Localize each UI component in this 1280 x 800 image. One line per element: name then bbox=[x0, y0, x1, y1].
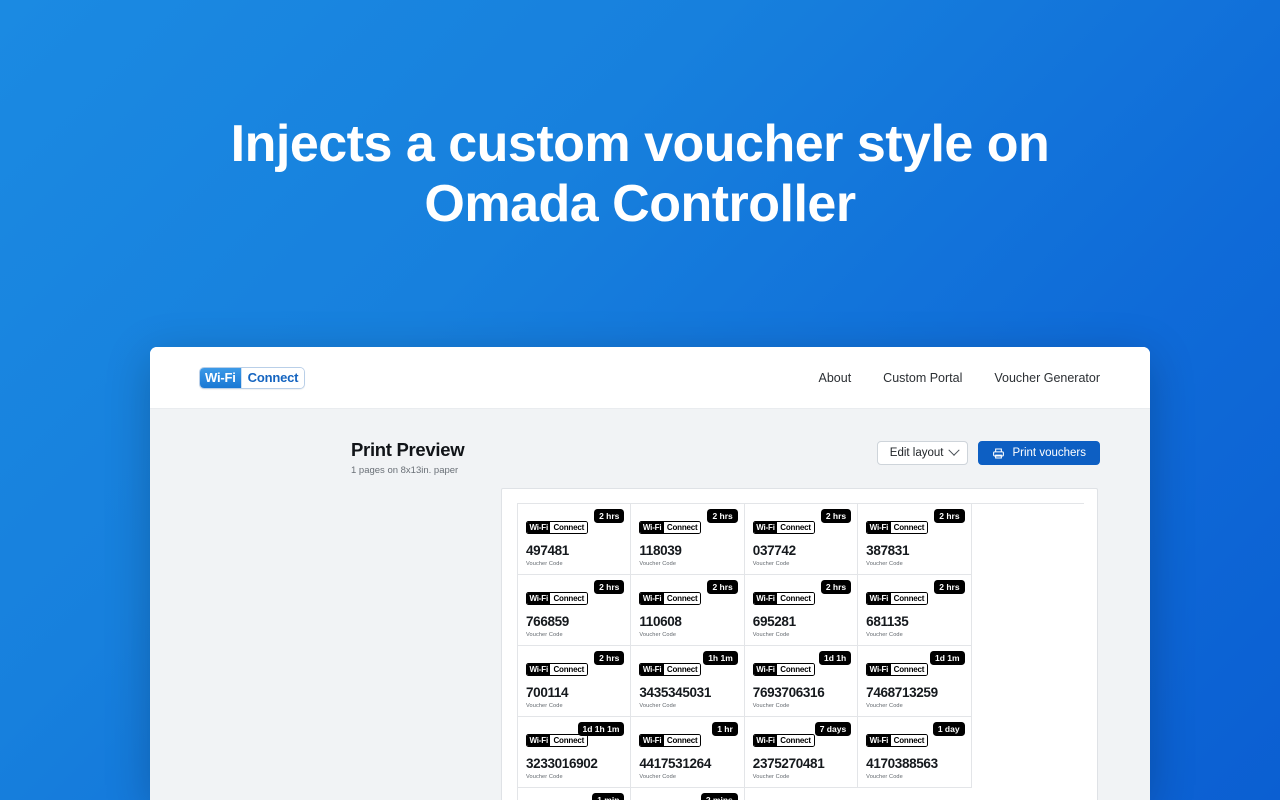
print-preview-toolbar: Print Preview 1 pages on 8x13in. paper E… bbox=[150, 409, 1150, 476]
chevron-down-icon bbox=[949, 445, 960, 456]
voucher-logo-connect: Connect bbox=[550, 735, 587, 746]
voucher-logo-connect: Connect bbox=[664, 522, 701, 533]
voucher-code-caption: Voucher Code bbox=[639, 703, 735, 709]
voucher-code-caption: Voucher Code bbox=[753, 561, 849, 567]
voucher-card: 2 hrsWi-FiConnect037742Voucher Code bbox=[745, 504, 858, 575]
toolbar-titles: Print Preview 1 pages on 8x13in. paper bbox=[351, 437, 464, 476]
voucher-code-caption: Voucher Code bbox=[639, 774, 735, 780]
nav-link-custom-portal[interactable]: Custom Portal bbox=[883, 371, 962, 385]
voucher-logo-connect: Connect bbox=[777, 664, 814, 675]
voucher-duration-badge: 2 hrs bbox=[594, 651, 624, 665]
brand-logo[interactable]: Wi-Fi Connect bbox=[199, 367, 305, 389]
voucher-logo-connect: Connect bbox=[550, 522, 587, 533]
voucher-logo-wifi: Wi-Fi bbox=[867, 664, 890, 675]
voucher-duration-badge: 2 hrs bbox=[934, 509, 964, 523]
voucher-logo: Wi-FiConnect bbox=[639, 521, 701, 534]
voucher-code: 7693706316 bbox=[753, 686, 849, 700]
voucher-code-caption: Voucher Code bbox=[526, 774, 622, 780]
voucher-logo-connect: Connect bbox=[550, 664, 587, 675]
voucher-code-caption: Voucher Code bbox=[866, 632, 962, 638]
voucher-logo: Wi-FiConnect bbox=[526, 734, 588, 747]
voucher-card: 1 hrWi-FiConnect4417531264Voucher Code bbox=[631, 717, 744, 788]
voucher-logo: Wi-FiConnect bbox=[753, 521, 815, 534]
voucher-code: 110608 bbox=[639, 615, 735, 629]
voucher-code-caption: Voucher Code bbox=[639, 632, 735, 638]
voucher-logo-wifi: Wi-Fi bbox=[527, 593, 550, 604]
page-title: Print Preview bbox=[351, 439, 464, 461]
nav-link-voucher-generator[interactable]: Voucher Generator bbox=[994, 371, 1100, 385]
voucher-card: 2 hrsWi-FiConnect497481Voucher Code bbox=[518, 504, 631, 575]
voucher-logo-wifi: Wi-Fi bbox=[867, 735, 890, 746]
voucher-code: 4170388563 bbox=[866, 757, 962, 771]
voucher-code: 387831 bbox=[866, 544, 962, 558]
voucher-logo-connect: Connect bbox=[891, 593, 928, 604]
voucher-logo-wifi: Wi-Fi bbox=[640, 522, 663, 533]
voucher-card: 2 hrsWi-FiConnect700114Voucher Code bbox=[518, 646, 631, 717]
voucher-card: 7 daysWi-FiConnect2375270481Voucher Code bbox=[745, 717, 858, 788]
printer-icon bbox=[992, 447, 1005, 460]
voucher-code: 766859 bbox=[526, 615, 622, 629]
voucher-logo: Wi-FiConnect bbox=[639, 734, 701, 747]
voucher-logo: Wi-FiConnect bbox=[753, 663, 815, 676]
hero-banner: Injects a custom voucher style on Omada … bbox=[0, 0, 1280, 347]
voucher-code: 3435345031 bbox=[639, 686, 735, 700]
main-nav: About Custom Portal Voucher Generator bbox=[819, 371, 1101, 385]
brand-logo-connect: Connect bbox=[241, 368, 305, 388]
voucher-duration-badge: 1d 1m bbox=[930, 651, 965, 665]
voucher-grid: 2 hrsWi-FiConnect497481Voucher Code2 hrs… bbox=[517, 503, 1084, 800]
voucher-logo-connect: Connect bbox=[550, 593, 587, 604]
voucher-card: 1d 1mWi-FiConnect7468713259Voucher Code bbox=[858, 646, 971, 717]
voucher-card: 1h 1mWi-FiConnect3435345031Voucher Code bbox=[631, 646, 744, 717]
print-vouchers-label: Print vouchers bbox=[1012, 447, 1086, 459]
voucher-logo-connect: Connect bbox=[664, 593, 701, 604]
voucher-code: 118039 bbox=[639, 544, 735, 558]
voucher-card: 1 dayWi-FiConnect4170388563Voucher Code bbox=[858, 717, 971, 788]
voucher-logo-wifi: Wi-Fi bbox=[527, 522, 550, 533]
voucher-code: 7468713259 bbox=[866, 686, 962, 700]
voucher-code: 497481 bbox=[526, 544, 622, 558]
voucher-logo-connect: Connect bbox=[777, 735, 814, 746]
voucher-code-caption: Voucher Code bbox=[866, 774, 962, 780]
voucher-logo: Wi-FiConnect bbox=[753, 592, 815, 605]
voucher-code-caption: Voucher Code bbox=[866, 561, 962, 567]
voucher-code: 3233016902 bbox=[526, 757, 622, 771]
voucher-logo-wifi: Wi-Fi bbox=[640, 664, 663, 675]
voucher-logo-wifi: Wi-Fi bbox=[754, 735, 777, 746]
voucher-logo-wifi: Wi-Fi bbox=[867, 593, 890, 604]
nav-link-about[interactable]: About bbox=[819, 371, 852, 385]
print-sheet: 2 hrsWi-FiConnect497481Voucher Code2 hrs… bbox=[501, 488, 1098, 800]
voucher-card: 2 hrsWi-FiConnect387831Voucher Code bbox=[858, 504, 971, 575]
voucher-logo: Wi-FiConnect bbox=[866, 663, 928, 676]
voucher-code: 700114 bbox=[526, 686, 622, 700]
voucher-card: 2 hrsWi-FiConnect110608Voucher Code bbox=[631, 575, 744, 646]
voucher-logo: Wi-FiConnect bbox=[639, 663, 701, 676]
voucher-duration-badge: 2 hrs bbox=[707, 509, 737, 523]
voucher-code-caption: Voucher Code bbox=[639, 561, 735, 567]
toolbar-actions: Edit layout Print vouchers bbox=[877, 437, 1100, 465]
voucher-code: 4417531264 bbox=[639, 757, 735, 771]
voucher-logo-wifi: Wi-Fi bbox=[527, 664, 550, 675]
voucher-logo-connect: Connect bbox=[891, 522, 928, 533]
voucher-code-caption: Voucher Code bbox=[526, 703, 622, 709]
voucher-duration-badge: 1 hr bbox=[712, 722, 738, 736]
voucher-logo: Wi-FiConnect bbox=[526, 521, 588, 534]
voucher-logo-connect: Connect bbox=[777, 522, 814, 533]
voucher-card: 2 hrsWi-FiConnect118039Voucher Code bbox=[631, 504, 744, 575]
voucher-duration-badge: 2 hrs bbox=[821, 580, 851, 594]
voucher-logo-connect: Connect bbox=[891, 735, 928, 746]
voucher-logo-connect: Connect bbox=[777, 593, 814, 604]
voucher-logo-wifi: Wi-Fi bbox=[527, 735, 550, 746]
voucher-card: 2 hrsWi-FiConnect681135Voucher Code bbox=[858, 575, 971, 646]
voucher-duration-badge: 1d 1h 1m bbox=[578, 722, 625, 736]
app-window: Wi-Fi Connect About Custom Portal Vouche… bbox=[150, 347, 1150, 800]
voucher-logo: Wi-FiConnect bbox=[753, 734, 815, 747]
voucher-duration-badge: 2 hrs bbox=[594, 509, 624, 523]
voucher-duration-badge: 1h 1m bbox=[703, 651, 738, 665]
voucher-logo: Wi-FiConnect bbox=[866, 521, 928, 534]
voucher-logo: Wi-FiConnect bbox=[639, 592, 701, 605]
voucher-duration-badge: 7 days bbox=[815, 722, 851, 736]
voucher-card: 1d 1h 1mWi-FiConnect3233016902Voucher Co… bbox=[518, 717, 631, 788]
voucher-logo-wifi: Wi-Fi bbox=[640, 735, 663, 746]
brand-logo-wifi: Wi-Fi bbox=[200, 368, 241, 388]
voucher-duration-badge: 1d 1h bbox=[819, 651, 851, 665]
voucher-code-caption: Voucher Code bbox=[526, 632, 622, 638]
voucher-card: 2 hrsWi-FiConnect695281Voucher Code bbox=[745, 575, 858, 646]
voucher-card: 2 hrsWi-FiConnect766859Voucher Code bbox=[518, 575, 631, 646]
hero-title: Injects a custom voucher style on Omada … bbox=[231, 114, 1050, 234]
voucher-card: 1 minWi-FiConnect6726428297Voucher Code bbox=[518, 788, 631, 800]
voucher-code: 695281 bbox=[753, 615, 849, 629]
voucher-code-caption: Voucher Code bbox=[753, 632, 849, 638]
print-vouchers-button[interactable]: Print vouchers bbox=[978, 441, 1100, 465]
voucher-code-caption: Voucher Code bbox=[866, 703, 962, 709]
voucher-duration-badge: 1 min bbox=[592, 793, 624, 800]
edit-layout-button[interactable]: Edit layout bbox=[877, 441, 969, 465]
voucher-logo-connect: Connect bbox=[664, 664, 701, 675]
voucher-code-caption: Voucher Code bbox=[526, 561, 622, 567]
voucher-card: 2 minsWi-FiConnect8100686991Voucher Code bbox=[631, 788, 744, 800]
edit-layout-label: Edit layout bbox=[890, 447, 944, 459]
voucher-duration-badge: 2 mins bbox=[701, 793, 738, 800]
voucher-logo-wifi: Wi-Fi bbox=[754, 593, 777, 604]
voucher-logo-wifi: Wi-Fi bbox=[640, 593, 663, 604]
voucher-duration-badge: 2 hrs bbox=[934, 580, 964, 594]
voucher-card: 1d 1hWi-FiConnect7693706316Voucher Code bbox=[745, 646, 858, 717]
voucher-logo: Wi-FiConnect bbox=[526, 592, 588, 605]
voucher-logo-wifi: Wi-Fi bbox=[754, 522, 777, 533]
voucher-logo-connect: Connect bbox=[891, 664, 928, 675]
voucher-duration-badge: 1 day bbox=[933, 722, 965, 736]
voucher-code: 681135 bbox=[866, 615, 962, 629]
voucher-duration-badge: 2 hrs bbox=[707, 580, 737, 594]
voucher-logo-wifi: Wi-Fi bbox=[754, 664, 777, 675]
voucher-logo: Wi-FiConnect bbox=[866, 734, 928, 747]
voucher-logo: Wi-FiConnect bbox=[866, 592, 928, 605]
voucher-code-caption: Voucher Code bbox=[753, 703, 849, 709]
voucher-code-caption: Voucher Code bbox=[753, 774, 849, 780]
voucher-duration-badge: 2 hrs bbox=[821, 509, 851, 523]
site-header: Wi-Fi Connect About Custom Portal Vouche… bbox=[150, 347, 1150, 409]
voucher-logo-wifi: Wi-Fi bbox=[867, 522, 890, 533]
voucher-logo-connect: Connect bbox=[664, 735, 701, 746]
voucher-duration-badge: 2 hrs bbox=[594, 580, 624, 594]
page-subtitle: 1 pages on 8x13in. paper bbox=[351, 465, 464, 476]
voucher-logo: Wi-FiConnect bbox=[526, 663, 588, 676]
voucher-code: 037742 bbox=[753, 544, 849, 558]
voucher-code: 2375270481 bbox=[753, 757, 849, 771]
